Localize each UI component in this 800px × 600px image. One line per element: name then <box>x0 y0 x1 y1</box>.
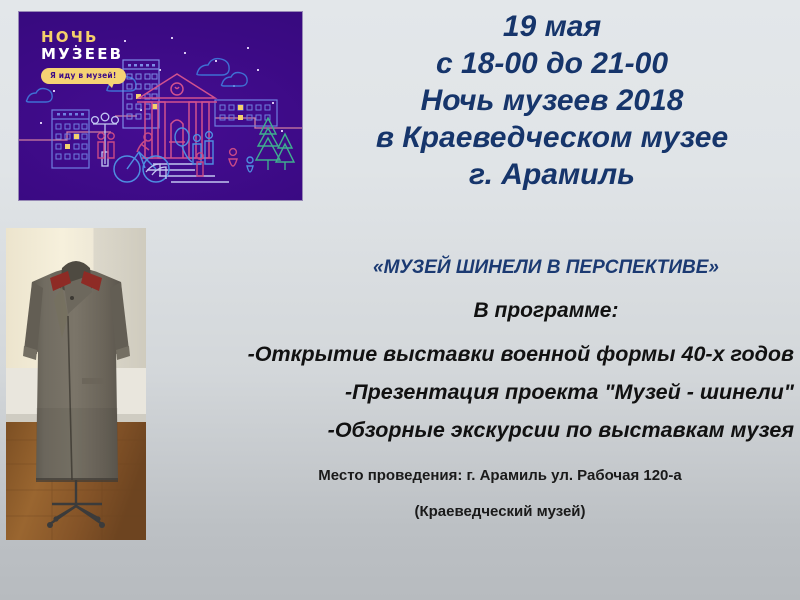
poster-slide: НОЧЬ МУЗЕЕВ Я иду в музей! <box>0 0 800 600</box>
venue-block: Место проведения: г. Арамиль ул. Рабочая… <box>230 458 770 530</box>
headline-line-4: в Краеведческом музее <box>310 119 794 156</box>
night-of-museums-poster: НОЧЬ МУЗЕЕВ Я иду в музей! <box>19 12 302 200</box>
venue-address: Место проведения: г. Арамиль ул. Рабочая… <box>230 458 770 494</box>
program-item-1: -Открытие выставки военной формы 40-х го… <box>138 335 794 373</box>
headline-line-1: 19 мая <box>310 8 794 45</box>
greatcoat-illustration <box>6 228 146 540</box>
exhibition-subtitle: «МУЗЕЙ ШИНЕЛИ В ПЕРСПЕКТИВЕ» <box>300 257 792 279</box>
program-item-2: -Презентация проекта "Музей - шинели" <box>138 373 794 411</box>
poster-title: НОЧЬ МУЗЕЕВ <box>41 29 123 63</box>
venue-name: (Краеведческий музей) <box>230 494 770 530</box>
poster-title-line2: МУЗЕЕВ <box>41 45 123 63</box>
headline-line-2: с 18-00 до 21-00 <box>310 45 794 82</box>
headline-block: 19 мая с 18-00 до 21-00 Ночь музеев 2018… <box>310 8 794 193</box>
poster-badge: Я иду в музей! <box>41 68 126 84</box>
poster-title-line1: НОЧЬ <box>41 28 99 46</box>
headline-line-3: Ночь музеев 2018 <box>310 82 794 119</box>
greatcoat-photo <box>6 228 146 540</box>
program-item-3: -Обзорные экскурсии по выставкам музея <box>138 411 794 449</box>
program-intro: В программе: <box>300 298 792 323</box>
headline-line-5: г. Арамиль <box>310 156 794 193</box>
program-list: -Открытие выставки военной формы 40-х го… <box>138 335 794 449</box>
